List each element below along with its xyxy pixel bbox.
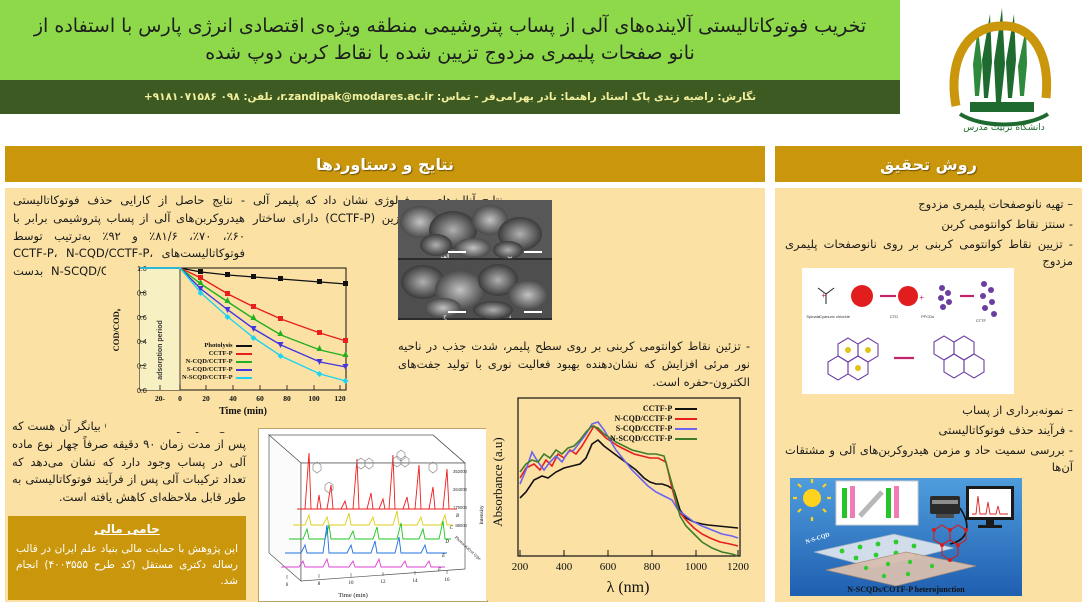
scheme-svg: Spinate + Cyanuric chloride CTD + PFCDs …: [802, 268, 1014, 394]
sem-images-svg: الف ب ج د: [398, 200, 552, 320]
kinetics-xtick-80: 80: [283, 394, 291, 403]
gcms-xtick-14: 14: [413, 579, 419, 584]
uvvis-legend-label-scqd: S-CQD/CCTF-P: [616, 424, 672, 433]
legend-item-scqd: S-CQD/CCTF-P: [182, 366, 252, 373]
uvvis-xtick-800: 800: [644, 561, 661, 573]
gcms-ytick-264000: 264000: [453, 487, 468, 492]
kinetics-ytick-0.2: 0.2: [137, 364, 147, 371]
uvvis-legend-item-nscqd: N-SCQD/CCTF-P: [610, 434, 697, 443]
scheme-label-ctd: CTD: [890, 314, 898, 319]
funding-box: حامی مالی این پژوهش با حمایت مالی بنیاد …: [8, 516, 246, 600]
legend-item-nscqd: N-SCQD/CCTF-P: [182, 374, 252, 381]
legend-item-photolysis: Photolysis: [182, 342, 252, 349]
funding-body: این پژوهش با حمایت مالی بنیاد علم ایران …: [16, 542, 238, 589]
gcms-xtick-8: 8: [318, 582, 321, 587]
legend-label-cctf-p: CCTF-P: [209, 350, 233, 357]
method-item-6: - بررسی سمیت حاد و مزمن هیدروکربن‌های آل…: [785, 442, 1073, 478]
legend-swatch-ncqd: [236, 361, 252, 363]
gcms-ylabel: Intensity: [479, 505, 485, 524]
scheme-label-cyanuric: Cyanuric chloride: [819, 314, 851, 319]
legend-item-ncqd: N-CQD/CCTF-P: [182, 358, 252, 365]
uvvis-legend-label-cctf-p: CCTF-P: [643, 404, 672, 413]
uvvis-xlabel: λ (nm): [607, 579, 650, 596]
gcms-xtick-10: 10: [349, 581, 355, 586]
poster-title-line-1: تخریب فوتوکاتالیستی آلاینده‌های آلی از پ…: [34, 13, 866, 40]
uvvis-xtick-200: 200: [512, 561, 529, 573]
legend-swatch-scqd: [236, 369, 252, 371]
sem-caption-c: ج: [443, 314, 447, 320]
uvvis-legend-item-cctf-p: CCTF-P: [610, 404, 697, 413]
funding-title: حامی مالی: [16, 522, 238, 536]
kinetics-xtick-60: 60: [256, 394, 264, 403]
legend-label-nscqd: N-SCQD/CCTF-P: [182, 374, 233, 381]
section-title-results: نتایج و دستاوردها: [316, 155, 454, 174]
uvvis-legend-swatch-nscqd: [675, 438, 697, 440]
uvvis-legend-label-ncqd: N-CQD/CCTF-P: [614, 414, 672, 423]
kinetics-xtick-20: 20: [202, 394, 210, 403]
figure-uvvis-chart: 200 400 600 800 1000 1200 λ (nm) Absorba…: [486, 392, 752, 600]
method-item-2: - سنتز نقاط کوانتومی کربن: [785, 216, 1073, 234]
gcms-ytick-88000: 88000: [455, 523, 467, 528]
section-header-method: روش تحقیق: [775, 146, 1082, 182]
heterojunction-svg: N-S-CQD N-SCQDs/COTF-P heterojunction: [790, 478, 1022, 596]
gcms-xlabel: Time (min): [338, 592, 368, 599]
method-item-1: – تهیه نانوصفحات پلیمری مزدوج: [785, 196, 1073, 214]
gcms-xtick-6: 6: [286, 583, 289, 588]
kinetics-ytick-0.6: 0.6: [137, 315, 147, 322]
section-header-results: نتایج و دستاوردها: [5, 146, 765, 182]
uvvis-xtick-600: 600: [600, 561, 617, 573]
results-uvvis-paragraph-wrap: - تزئین نقاط کوانتومی کربنی بر روی سطح پ…: [398, 338, 750, 391]
uvvis-legend-swatch-ncqd: [675, 418, 697, 420]
kinetics-xlabel: Time (min): [219, 406, 267, 417]
kinetics-xtick--20: -20: [155, 394, 166, 403]
scheme-label-cttf: CTTF: [976, 318, 987, 323]
kinetics-ytick-1.0: 1.0: [137, 266, 147, 273]
uvvis-xtick-1000: 1000: [685, 561, 708, 573]
gcms-trace-label-E: E: [441, 554, 445, 559]
legend-swatch-cctf-p: [236, 353, 252, 355]
poster-title: تخریب فوتوکاتالیستی آلاینده‌های آلی از پ…: [34, 13, 866, 67]
authors-banner: نگارش: راضیه زندی پاک استاد راهنما: نادر…: [0, 80, 900, 114]
gcms-ytick-352000: 352000: [453, 469, 468, 474]
method-item-3: - تزیین نقاط کوانتومی کربنی بر روی نانوص…: [785, 236, 1073, 272]
university-logo-icon: دانشگاه تربیت مدرس: [930, 2, 1080, 134]
legend-label-ncqd: N-CQD/CCTF-P: [186, 358, 233, 365]
kinetics-ytick-0.8: 0.8: [137, 290, 147, 297]
figure-kinetics-chart: 1.0 0.8 0.6 0.4 0.2 0.0 -20 0: [106, 262, 358, 432]
kinetics-ylabel: COD/COD₀: [111, 308, 121, 351]
scheme-label-pfcds: PFCDs: [921, 314, 934, 319]
legend-label-scqd: S-CQD/CCTF-P: [187, 366, 233, 373]
logo-caption: دانشگاه تربیت مدرس: [963, 121, 1045, 133]
kinetics-xtick-120: 120: [334, 394, 346, 403]
sem-caption-a: الف: [441, 254, 450, 260]
uvvis-xtick-1200: 1200: [727, 561, 750, 573]
legend-item-cctf-p: CCTF-P: [182, 350, 252, 357]
authors-line: نگارش: راضیه زندی پاک استاد راهنما: نادر…: [144, 91, 756, 103]
scheme-plus-2: +: [919, 293, 924, 302]
kinetics-ytick-0.0: 0.0: [137, 388, 147, 395]
legend-swatch-photolysis: [236, 345, 252, 347]
uvvis-ylabel: Absorbance (a.u): [490, 437, 505, 527]
gcms-xtick-12: 12: [381, 580, 387, 585]
method-item-4: – نمونه‌برداری از پساب: [785, 402, 1073, 420]
figure-sem-micrographs: الف ب ج د: [398, 200, 552, 320]
uvvis-legend: CCTF-P N-CQD/CCTF-P S-CQD/CCTF-P N-SCQD/…: [610, 404, 697, 444]
sem-caption-b: ب: [507, 254, 512, 260]
kinetics-xtick-40: 40: [229, 394, 237, 403]
uvvis-legend-item-ncqd: N-CQD/CCTF-P: [610, 414, 697, 423]
figure-heterojunction: N-S-CQD N-SCQDs/COTF-P heterojunction: [790, 478, 1022, 596]
method-list-top: – تهیه نانوصفحات پلیمری مزدوج - سنتز نقا…: [785, 196, 1073, 271]
uvvis-legend-swatch-cctf-p: [675, 408, 697, 410]
kinetics-ytick-0.4: 0.4: [137, 339, 147, 346]
uvvis-legend-label-nscqd: N-SCQD/CCTF-P: [610, 434, 672, 443]
figure-gcms-chromatogram: 352000 264000 176000 88000 Intensity: [258, 428, 488, 602]
kinetics-annotation-adsorption: adsorption period: [157, 320, 164, 380]
section-title-method: روش تحقیق: [880, 155, 977, 174]
uvvis-legend-item-scqd: S-CQD/CCTF-P: [610, 424, 697, 433]
gcms-xtick-16: 16: [445, 578, 451, 583]
results-uvvis-paragraph: - تزئین نقاط کوانتومی کربنی بر روی سطح پ…: [398, 338, 750, 391]
gcms-plot-svg: 352000 264000 176000 88000 Intensity: [261, 429, 487, 599]
kinetics-xtick-0: 0: [178, 394, 182, 403]
gcms-trace-label-B: B: [456, 514, 459, 519]
scheme-plus-1: +: [821, 291, 826, 300]
uvvis-legend-swatch-scqd: [675, 428, 697, 430]
uvvis-xtick-400: 400: [556, 561, 573, 573]
method-item-5: - فرآیند حذف فوتوکاتالیستی: [785, 422, 1073, 440]
gcms-trace-label-D: D: [444, 540, 449, 545]
legend-label-photolysis: Photolysis: [204, 342, 232, 349]
poster-header: تخریب فوتوکاتالیستی آلاینده‌های آلی از پ…: [0, 0, 1087, 136]
poster-title-line-2: نانو صفحات پلیمری مزدوج تزیین شده با نقا…: [34, 40, 866, 67]
poster-title-banner: تخریب فوتوکاتالیستی آلاینده‌های آلی از پ…: [0, 0, 900, 80]
kinetics-xtick-100: 100: [308, 394, 320, 403]
legend-swatch-nscqd: [236, 377, 252, 379]
method-list-bottom: – نمونه‌برداری از پساب - فرآیند حذف فوتو…: [785, 402, 1073, 477]
poster-root: تخریب فوتوکاتالیستی آلاینده‌های آلی از پ…: [0, 0, 1087, 606]
kinetics-legend: Photolysis CCTF-P N-CQD/CCTF-P S-CQD/CCT…: [182, 342, 252, 382]
figure-synthesis-scheme: Spinate + Cyanuric chloride CTD + PFCDs …: [802, 268, 1014, 394]
hetero-caption: N-SCQDs/COTF-P heterojunction: [847, 585, 965, 594]
